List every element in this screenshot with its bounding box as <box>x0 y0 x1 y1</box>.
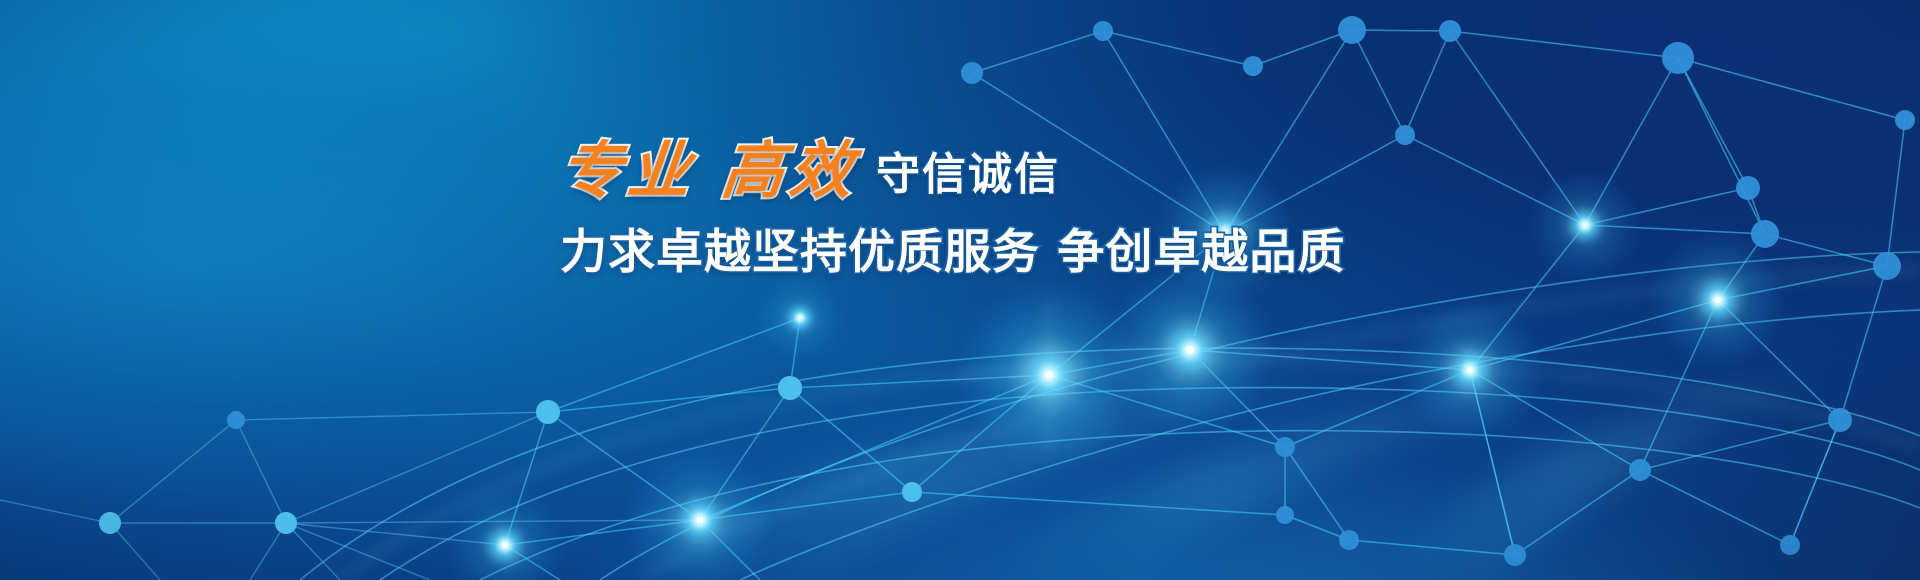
hero-banner: 专业高效 守信诚信 力求卓越坚持优质服务 争创卓越品质 <box>0 0 1920 580</box>
headline-emphasis-1: 专业 <box>556 134 700 207</box>
headline-subline: 力求卓越坚持优质服务 争创卓越品质 <box>560 213 1280 282</box>
headline-emphasis-2: 高效 <box>718 134 862 207</box>
banner-copy: 专业高效 守信诚信 力求卓越坚持优质服务 争创卓越品质 <box>560 138 1280 282</box>
headline-emphasis: 专业高效 <box>557 138 862 203</box>
headline-plain: 守信诚信 <box>876 152 1060 203</box>
background-vignette <box>0 0 1920 580</box>
headline-line-1: 专业高效 守信诚信 <box>560 138 1280 203</box>
